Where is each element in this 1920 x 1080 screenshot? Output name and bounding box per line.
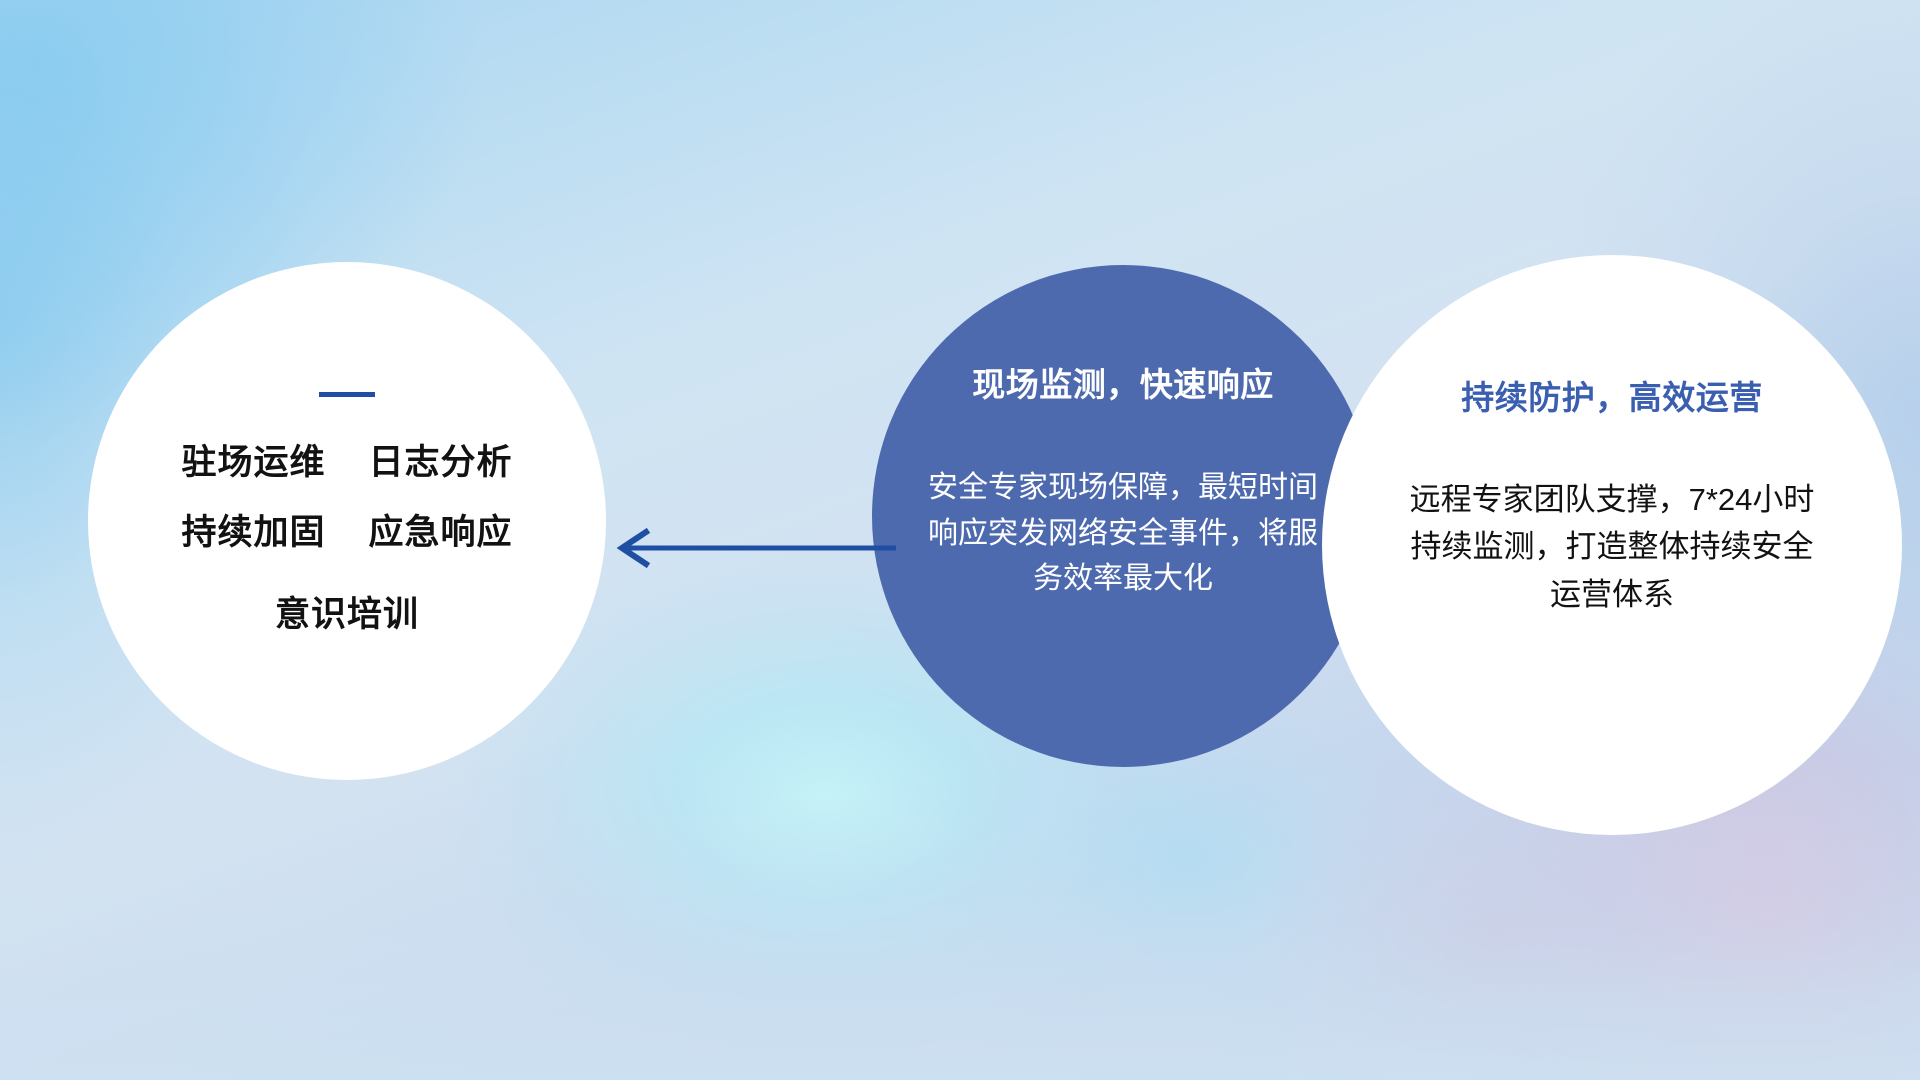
middle-circle-body: 安全专家现场保障，最短时间响应突发网络安全事件，将服务效率最大化 — [923, 465, 1323, 602]
middle-circle-content: 现场监测，快速响应 安全专家现场保障，最短时间响应突发网络安全事件，将服务效率最… — [872, 265, 1374, 767]
right-circle-content: 持续防护，高效运营 远程专家团队支撑，7*24小时持续监测，打造整体持续安全运营… — [1322, 255, 1902, 835]
flow-arrow-left-icon — [600, 512, 900, 584]
slide-canvas: 驻场运维 日志分析 持续加固 应急响应 意识培训 现场监测，快速响应 安全专家现… — [0, 0, 1920, 1080]
left-divider-dash — [319, 392, 375, 397]
middle-circle-title: 现场监测，快速响应 — [972, 367, 1274, 403]
right-circle-body: 远程专家团队支撑，7*24小时持续监测，打造整体持续安全运营体系 — [1402, 476, 1822, 617]
left-service-line-3: 意识培训 — [275, 597, 419, 632]
left-circle-content: 驻场运维 日志分析 持续加固 应急响应 意识培训 — [88, 262, 606, 780]
right-circle-title: 持续防护，高效运营 — [1461, 380, 1763, 416]
left-service-line-1: 驻场运维 日志分析 — [182, 445, 513, 480]
left-service-line-2: 持续加固 应急响应 — [182, 515, 513, 550]
